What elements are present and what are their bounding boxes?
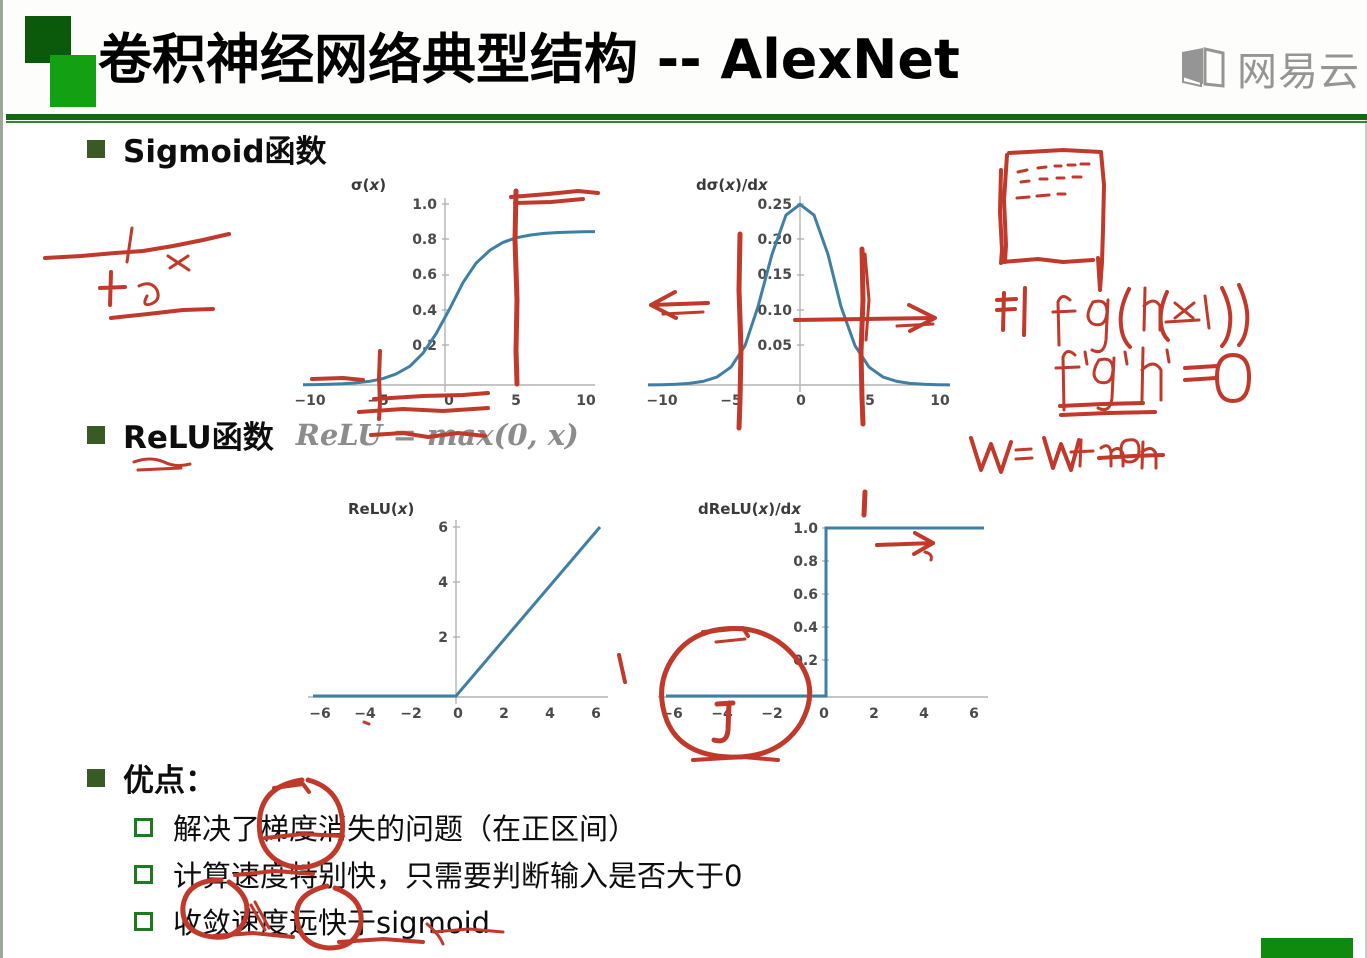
hollow-square-icon <box>134 865 153 884</box>
svg-text:0: 0 <box>444 393 454 409</box>
section-label-sigmoid: Sigmoid函数 <box>123 126 327 171</box>
svg-text:−5: −5 <box>720 393 741 409</box>
svg-text:4: 4 <box>545 706 555 722</box>
svg-text:10: 10 <box>930 393 950 409</box>
logo-square-light <box>50 55 96 107</box>
svg-text:5: 5 <box>511 393 521 409</box>
svg-text:0: 0 <box>453 706 463 722</box>
chart-title-sigmoid: σ(x) <box>351 176 386 194</box>
svg-text:0.8: 0.8 <box>412 232 437 248</box>
svg-text:−4: −4 <box>711 706 733 722</box>
bullet-square-icon <box>87 769 105 787</box>
header-divider-thin <box>6 121 1367 123</box>
ink-chain-rule <box>997 285 1247 352</box>
relu-formula: ReLU = max(0, x) <box>296 418 579 452</box>
chart-title-drelu: dReLU(x)/dx <box>698 500 802 518</box>
chart-title-relu: ReLU(x) <box>348 500 414 518</box>
bullet-square-icon <box>87 140 105 158</box>
hollow-square-icon <box>134 912 153 931</box>
svg-text:4: 4 <box>919 706 929 722</box>
advantage-text-3: 收敛速度远快于sigmoid <box>173 900 490 942</box>
ink-derivative-zero <box>1056 348 1249 415</box>
chart-title-dsigmoid: dσ(x)/dx <box>696 176 769 194</box>
svg-text:2: 2 <box>499 706 509 722</box>
watermark: 网易云 <box>1179 38 1360 98</box>
corner-marker <box>1261 938 1353 958</box>
svg-text:1.0: 1.0 <box>412 197 437 213</box>
svg-text:2: 2 <box>869 706 879 722</box>
slide-header: 卷积神经网络典型结构 -- AlexNet 网易云 <box>3 0 1367 118</box>
svg-text:0.05: 0.05 <box>757 338 792 354</box>
svg-text:0: 0 <box>796 393 806 409</box>
hollow-square-icon <box>134 818 153 837</box>
svg-text:0.25: 0.25 <box>757 197 792 213</box>
svg-text:6: 6 <box>969 706 979 722</box>
watermark-label: 网易云 <box>1237 39 1360 97</box>
svg-text:−6: −6 <box>309 706 330 722</box>
advantage-text-1: 解决了梯度消失的问题（在正区间） <box>173 806 637 848</box>
header-divider <box>6 114 1367 120</box>
book-icon <box>1179 46 1227 90</box>
section-label-relu: ReLU函数 <box>123 412 274 457</box>
svg-text:0.2: 0.2 <box>793 653 818 669</box>
svg-text:−2: −2 <box>761 706 782 722</box>
svg-text:−5: −5 <box>367 393 388 409</box>
section-bullet-advantages: 优点： <box>87 755 216 800</box>
chart-sigmoid: σ(x) 1.0 0.8 0.6 0.4 0.2 −10 <box>303 168 603 403</box>
svg-text:6: 6 <box>591 706 601 722</box>
list-item: 解决了梯度消失的问题（在正区间） <box>134 806 637 848</box>
svg-text:−4: −4 <box>354 706 376 722</box>
chart-sigmoid-derivative: dσ(x)/dx 0.25 0.20 0.15 0.10 0.05 −10 −5… <box>648 168 958 403</box>
chart-relu: ReLU(x) 6 4 2 −6 −4 −2 0 2 4 6 <box>308 492 618 722</box>
section-bullet-relu: ReLU函数 ReLU = max(0, x) <box>87 412 579 457</box>
svg-text:5: 5 <box>865 393 875 409</box>
page-title: 卷积神经网络典型结构 -- AlexNet <box>98 20 1128 100</box>
svg-text:0.4: 0.4 <box>412 303 437 319</box>
svg-text:−10: −10 <box>646 393 677 409</box>
ink-box-sketch <box>1000 150 1104 290</box>
svg-text:2: 2 <box>438 630 448 646</box>
svg-text:1.0: 1.0 <box>793 521 818 537</box>
svg-text:10: 10 <box>576 393 596 409</box>
svg-text:0.15: 0.15 <box>757 267 792 283</box>
svg-text:−2: −2 <box>400 706 421 722</box>
svg-text:0.4: 0.4 <box>793 620 818 636</box>
svg-text:0.6: 0.6 <box>793 587 818 603</box>
slide-root: 卷积神经网络典型结构 -- AlexNet 网易云 Sigmoid函数 σ(x) <box>0 0 1367 958</box>
advantage-text-2: 计算速度特别快，只需要判断输入是否大于0 <box>173 853 742 895</box>
chart-relu-derivative: dReLU(x)/dx 1.0 0.8 0.6 0.4 0.2 −6 −4 −2 <box>658 492 998 722</box>
ink-sigmoid-formula <box>45 228 229 318</box>
svg-text:0.8: 0.8 <box>793 554 818 570</box>
svg-text:0.10: 0.10 <box>757 303 792 319</box>
svg-text:−10: −10 <box>294 393 325 409</box>
list-item: 计算速度特别快，只需要判断输入是否大于0 <box>134 853 742 895</box>
list-item: 收敛速度远快于sigmoid <box>134 900 490 942</box>
bullet-square-icon <box>87 426 105 444</box>
svg-text:0: 0 <box>819 706 829 722</box>
svg-text:6: 6 <box>438 520 448 536</box>
ink-weight-update <box>971 438 1163 472</box>
section-label-advantages: 优点： <box>123 755 216 800</box>
svg-text:4: 4 <box>438 575 448 591</box>
svg-text:−6: −6 <box>661 706 682 722</box>
section-bullet-sigmoid: Sigmoid函数 <box>87 126 327 171</box>
svg-text:0.6: 0.6 <box>412 267 437 283</box>
